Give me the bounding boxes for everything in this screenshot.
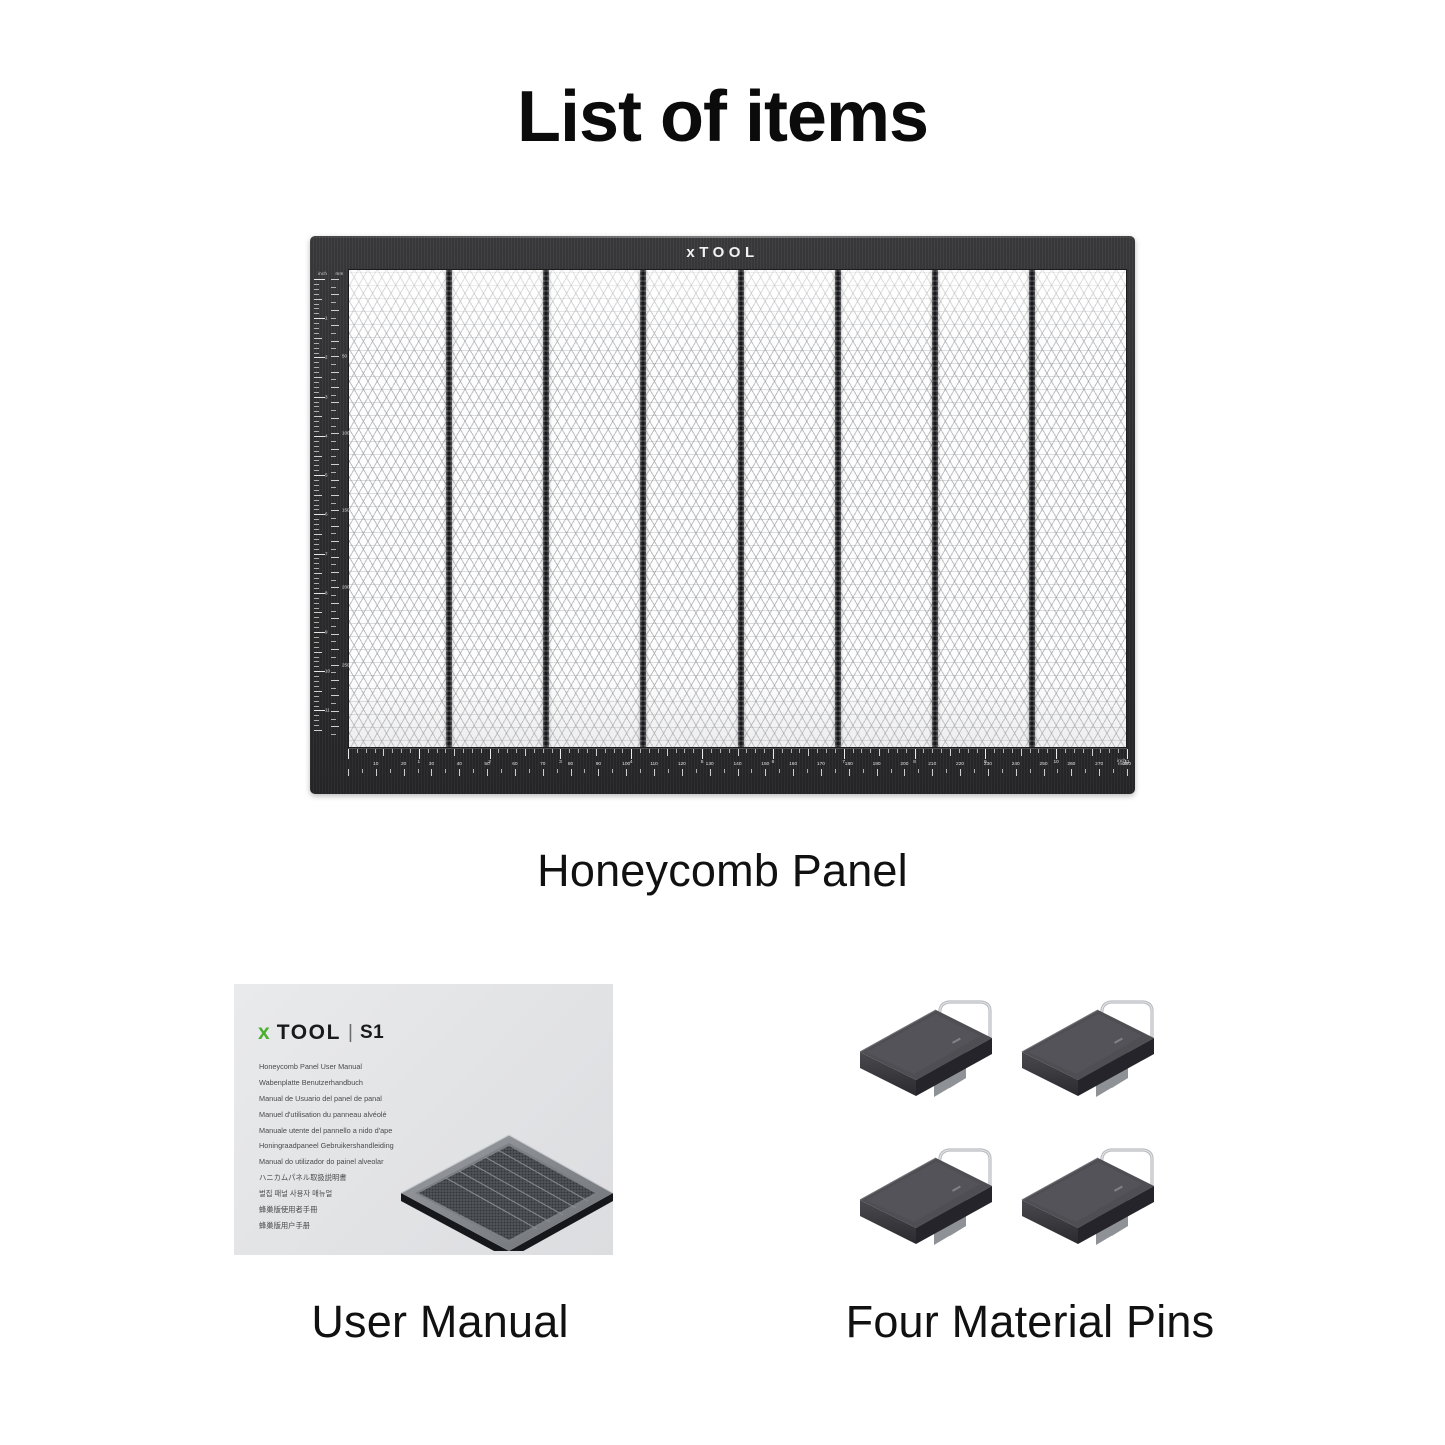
ruler-tick (314, 402, 319, 403)
ruler-tick (331, 418, 339, 419)
manual-title-line: Honeycomb Panel User Manual (259, 1063, 489, 1070)
ruler-tick (584, 769, 585, 773)
ruler-number: 150 (342, 508, 350, 513)
ruler-tick (331, 456, 336, 457)
ruler-tick (923, 749, 924, 753)
ruler-tick (419, 749, 420, 759)
ruler-number: 130 (706, 762, 714, 767)
ruler-tick (314, 578, 319, 579)
ruler-tick (764, 749, 765, 753)
ruler-tick (331, 533, 336, 534)
caption-user-manual: User Manual (120, 1296, 760, 1348)
ruler-tick (314, 730, 322, 731)
ruler-number: 180 (845, 762, 853, 767)
ruler-tick (879, 749, 880, 756)
left-ruler-mm-label: mm (335, 271, 343, 276)
ruler-tick (791, 749, 792, 753)
ruler-tick (314, 519, 319, 520)
ruler-tick (529, 769, 530, 773)
ruler-tick (1016, 769, 1017, 776)
ruler-tick (331, 711, 339, 712)
ruler-tick (445, 749, 446, 753)
ruler-tick (331, 726, 339, 727)
ruler-number: 150 (761, 762, 769, 767)
ruler-number: 11 (325, 708, 330, 713)
ruler-tick (598, 769, 599, 776)
ruler-tick (516, 749, 517, 753)
ruler-tick (720, 749, 721, 753)
caption-honeycomb-panel: Honeycomb Panel (0, 845, 1445, 897)
ruler-tick (968, 749, 969, 753)
ruler-tick (314, 725, 319, 726)
mesh-rib (640, 270, 646, 747)
ruler-tick (1083, 749, 1084, 753)
ruler-tick (314, 284, 319, 285)
ruler-tick (314, 715, 319, 716)
ruler-tick (738, 769, 739, 776)
material-pins-image (832, 980, 1162, 1255)
ruler-tick (1092, 749, 1093, 756)
ruler-tick (314, 431, 319, 432)
ruler-tick (331, 441, 336, 442)
mesh-rib (543, 270, 549, 747)
mesh-rib (738, 270, 744, 747)
ruler-tick (658, 749, 659, 753)
ruler-tick (622, 749, 623, 753)
ruler-tick (314, 529, 319, 530)
ruler-number: 30 (429, 762, 434, 767)
ruler-tick (314, 333, 319, 334)
ruler-number: 90 (596, 762, 601, 767)
ruler-tick (404, 769, 405, 776)
ruler-tick (314, 480, 319, 481)
ruler-number: 6 (772, 760, 775, 765)
ruler-number: 210 (928, 762, 936, 767)
ruler-tick (331, 318, 336, 319)
ruler-tick (331, 294, 339, 295)
ruler-tick (348, 769, 349, 776)
ruler-tick (428, 749, 429, 753)
ruler-tick (959, 749, 960, 753)
ruler-tick (314, 416, 322, 417)
ruler-tick (331, 572, 339, 573)
ruler-tick (314, 451, 319, 452)
ruler-tick (807, 769, 808, 773)
ruler-tick (649, 749, 650, 753)
ruler-tick (314, 681, 319, 682)
ruler-tick (897, 749, 898, 753)
ruler-tick (366, 749, 367, 753)
ruler-tick (331, 395, 336, 396)
ruler-tick (1085, 769, 1086, 773)
ruler-number: 230 (984, 762, 992, 767)
ruler-tick (702, 749, 703, 759)
ruler-tick (793, 769, 794, 776)
mesh-rib (446, 270, 452, 747)
ruler-tick (331, 734, 336, 735)
ruler-tick (331, 665, 339, 666)
ruler-tick (331, 695, 339, 696)
ruler-tick (314, 308, 319, 309)
ruler-tick (1047, 749, 1048, 753)
ruler-tick (314, 583, 319, 584)
ruler-tick (331, 279, 339, 280)
ruler-tick (877, 769, 878, 776)
ruler-tick (314, 505, 319, 506)
ruler-tick (314, 539, 319, 540)
ruler-tick (331, 603, 339, 604)
ruler-tick (817, 749, 818, 753)
ruler-number: 120 (678, 762, 686, 767)
ruler-tick (314, 720, 319, 721)
ruler-tick (314, 377, 322, 378)
ruler-tick (1057, 769, 1058, 773)
ruler-tick (799, 749, 800, 753)
honeycomb-panel-image: xTOOL inch1234567891011 mm50100150200250… (310, 236, 1135, 794)
ruler-tick (682, 769, 683, 776)
ruler-tick (314, 642, 319, 643)
ruler-tick (418, 769, 419, 773)
ruler-tick (826, 749, 827, 753)
ruler-tick (314, 666, 319, 667)
ruler-tick (314, 514, 325, 515)
ruler-tick (640, 749, 641, 753)
left-ruler-inch-scale: inch1234567891011 (314, 269, 331, 748)
ruler-tick (676, 749, 677, 753)
ruler-number: 200 (900, 762, 908, 767)
ruler-tick (1118, 749, 1119, 753)
ruler-tick (331, 379, 336, 380)
ruler-tick (314, 598, 319, 599)
ruler-tick (331, 372, 339, 373)
ruler-tick (844, 749, 845, 759)
ruler-tick (410, 749, 411, 753)
ruler-tick (331, 611, 336, 612)
manual-title-line: Wabenplatte Benutzerhandbuch (259, 1079, 489, 1086)
ruler-tick (1074, 749, 1075, 753)
ruler-number: 10 (1054, 760, 1059, 765)
ruler-tick (331, 680, 339, 681)
ruler-tick (445, 769, 446, 773)
ruler-tick (1109, 749, 1110, 753)
ruler-tick (331, 402, 339, 403)
ruler-tick (960, 769, 961, 776)
ruler-tick (314, 652, 322, 653)
ruler-tick (331, 503, 336, 504)
ruler-tick (314, 627, 319, 628)
ruler-tick (314, 617, 319, 618)
ruler-tick (314, 313, 319, 314)
ruler-tick (331, 703, 336, 704)
ruler-tick (331, 333, 336, 334)
ruler-number: 170 (817, 762, 825, 767)
ruler-tick (331, 480, 339, 481)
ruler-tick (515, 769, 516, 776)
ruler-number: 200 (342, 585, 350, 590)
ruler-tick (487, 769, 488, 776)
ruler-number: 50 (342, 354, 347, 359)
ruler-tick (314, 701, 319, 702)
material-pin (840, 980, 1008, 1104)
ruler-tick (1003, 749, 1004, 753)
ruler-tick (331, 472, 336, 473)
ruler-tick (314, 691, 322, 692)
ruler-number: 1 (325, 316, 328, 321)
ruler-tick (314, 563, 319, 564)
ruler-tick (918, 769, 919, 773)
ruler-number: 60 (512, 762, 517, 767)
ruler-tick (693, 749, 694, 753)
ruler-tick (314, 534, 322, 535)
ruler-tick (696, 769, 697, 773)
ruler-tick (835, 769, 836, 773)
ruler-tick (314, 671, 325, 672)
user-manual-image: x TOOL | S1 Honeycomb Panel User ManualW… (234, 984, 613, 1255)
ruler-tick (950, 749, 951, 756)
ruler-tick (331, 410, 336, 411)
ruler-tick (362, 769, 363, 773)
ruler-tick (314, 637, 319, 638)
ruler-tick (314, 436, 325, 437)
honeycomb-mesh (348, 269, 1127, 748)
material-pin (1002, 980, 1170, 1104)
ruler-tick (314, 289, 319, 290)
ruler-tick (331, 495, 339, 496)
ruler-number: 160 (789, 762, 797, 767)
ruler-tick (941, 749, 942, 753)
ruler-tick (1044, 769, 1045, 776)
ruler-number: 8 (913, 760, 916, 765)
ruler-number: 1 (417, 760, 420, 765)
ruler-tick (314, 524, 319, 525)
ruler-tick (314, 500, 319, 501)
ruler-tick (314, 294, 319, 295)
ruler-tick (888, 749, 889, 753)
ruler-tick (392, 749, 393, 753)
ruler-tick (314, 446, 319, 447)
ruler-tick (331, 564, 336, 565)
ruler-tick (314, 392, 319, 393)
logo-model-name: S1 (360, 1023, 384, 1042)
ruler-tick (1127, 749, 1128, 759)
ruler-tick (331, 325, 339, 326)
ruler-tick (314, 686, 319, 687)
ruler-tick (383, 749, 384, 756)
mesh-rib (835, 270, 841, 747)
ruler-tick (331, 595, 336, 596)
ruler-tick (331, 487, 336, 488)
ruler-tick (773, 749, 774, 759)
ruler-tick (314, 299, 322, 300)
ruler-tick (331, 302, 336, 303)
xtool-logo: xTOOL (686, 244, 758, 261)
ruler-tick (988, 769, 989, 776)
panel-top-bar: xTOOL (310, 236, 1135, 269)
ruler-tick (314, 710, 325, 711)
ruler-tick (314, 328, 319, 329)
ruler-tick (498, 749, 499, 753)
ruler-tick (314, 304, 319, 305)
ruler-tick (348, 749, 349, 759)
ruler-tick (473, 769, 474, 773)
ruler-tick (1002, 769, 1003, 773)
ruler-tick (314, 279, 325, 280)
manual-cover-panel-illustration (389, 1101, 613, 1251)
ruler-tick (738, 749, 739, 756)
ruler-number: 260 (1067, 762, 1075, 767)
ruler-tick (915, 749, 916, 759)
ruler-tick (668, 769, 669, 773)
ruler-tick (612, 769, 613, 773)
ruler-tick (587, 749, 588, 753)
ruler-tick (331, 356, 339, 357)
ruler-tick (375, 749, 376, 753)
ruler-number: 140 (733, 762, 741, 767)
ruler-tick (314, 568, 319, 569)
ruler-tick (314, 397, 325, 398)
ruler-tick (560, 749, 561, 759)
ruler-number: 240 (1012, 762, 1020, 767)
ruler-tick (578, 749, 579, 753)
ruler-tick (314, 460, 319, 461)
logo-wordmark: TOOL (277, 1022, 341, 1043)
ruler-tick (543, 749, 544, 753)
ruler-tick (463, 749, 464, 753)
ruler-tick (314, 485, 319, 486)
ruler-tick (755, 749, 756, 753)
ruler-tick (314, 318, 325, 319)
ruler-tick (437, 749, 438, 753)
ruler-tick (459, 769, 460, 776)
ruler-tick (870, 749, 871, 753)
ruler-tick (314, 676, 319, 677)
ruler-tick (314, 367, 319, 368)
ruler-tick (1127, 769, 1128, 776)
ruler-tick (932, 769, 933, 776)
caption-material-pins: Four Material Pins (710, 1296, 1350, 1348)
ruler-tick (314, 612, 322, 613)
ruler-tick (569, 749, 570, 753)
left-ruler-inch-label: inch (318, 271, 327, 276)
ruler-tick (314, 696, 319, 697)
ruler-tick (331, 688, 336, 689)
ruler-tick (977, 749, 978, 753)
ruler-tick (314, 588, 319, 589)
ruler-number: 190 (873, 762, 881, 767)
ruler-tick (765, 769, 766, 776)
ruler-tick (314, 338, 322, 339)
ruler-tick (534, 749, 535, 753)
ruler-tick (507, 749, 508, 753)
ruler-tick (314, 348, 319, 349)
ruler-number: 250 (342, 662, 350, 667)
ruler-tick (751, 769, 752, 773)
ruler-number: 6 (325, 512, 328, 517)
mesh-rib (932, 270, 938, 747)
ruler-tick (525, 749, 526, 756)
ruler-tick (314, 544, 319, 545)
ruler-tick (571, 769, 572, 776)
ruler-tick (331, 433, 339, 434)
ruler-tick (853, 749, 854, 753)
ruler-tick (331, 426, 336, 427)
ruler-tick (626, 769, 627, 776)
ruler-tick (331, 526, 339, 527)
ruler-tick (331, 657, 336, 658)
ruler-tick (557, 769, 558, 773)
ruler-tick (331, 510, 339, 511)
ruler-tick (314, 406, 319, 407)
ruler-number: 10 (325, 669, 330, 674)
ruler-tick (331, 626, 336, 627)
ruler-tick (1012, 749, 1013, 753)
ruler-tick (779, 769, 780, 773)
ruler-tick (331, 618, 339, 619)
ruler-tick (331, 672, 336, 673)
ruler-tick (729, 749, 730, 753)
ruler-tick (331, 549, 336, 550)
ruler-tick (431, 769, 432, 776)
ruler-tick (314, 632, 325, 633)
ruler-tick (454, 749, 455, 756)
ruler-tick (640, 769, 641, 773)
ruler-tick (543, 769, 544, 776)
ruler-tick (667, 749, 668, 756)
ruler-tick (1038, 749, 1039, 753)
ruler-tick (631, 749, 632, 759)
ruler-number: 4 (325, 433, 328, 438)
ruler-tick (314, 554, 325, 555)
ruler-tick (314, 470, 319, 471)
ruler-number: 50 (484, 762, 489, 767)
ruler-tick (401, 749, 402, 753)
ruler-number: 110 (650, 762, 658, 767)
ruler-tick (331, 287, 336, 288)
ruler-tick (314, 426, 319, 427)
ruler-tick (314, 647, 319, 648)
ruler-tick (906, 749, 907, 753)
ruler-number: 7 (325, 551, 328, 556)
product-list-page: List of items xTOOL inch1234567891011 mm… (0, 0, 1445, 1445)
logo-divider: | (348, 1023, 353, 1042)
ruler-tick (835, 749, 836, 753)
ruler-tick (861, 749, 862, 753)
ruler-tick (314, 382, 319, 383)
ruler-tick (684, 749, 685, 753)
ruler-tick (314, 608, 319, 609)
ruler-tick (314, 475, 325, 476)
ruler-tick (711, 749, 712, 753)
ruler-tick (501, 769, 502, 773)
bottom-ruler: 1234567891011inch 1020304050607080901001… (348, 748, 1127, 791)
ruler-tick (314, 603, 319, 604)
ruler-number: 4 (630, 760, 633, 765)
ruler-tick (314, 490, 319, 491)
ruler-tick (946, 769, 947, 773)
ruler-tick (331, 464, 339, 465)
ruler-tick (1099, 769, 1100, 776)
ruler-tick (314, 661, 319, 662)
ruler-tick (314, 549, 319, 550)
ruler-tick (331, 518, 336, 519)
ruler-number: 100 (622, 762, 630, 767)
ruler-tick (724, 769, 725, 773)
ruler-tick (1030, 769, 1031, 773)
ruler-tick (782, 749, 783, 753)
ruler-tick (490, 749, 491, 759)
ruler-tick (1071, 769, 1072, 776)
ruler-tick (314, 495, 322, 496)
